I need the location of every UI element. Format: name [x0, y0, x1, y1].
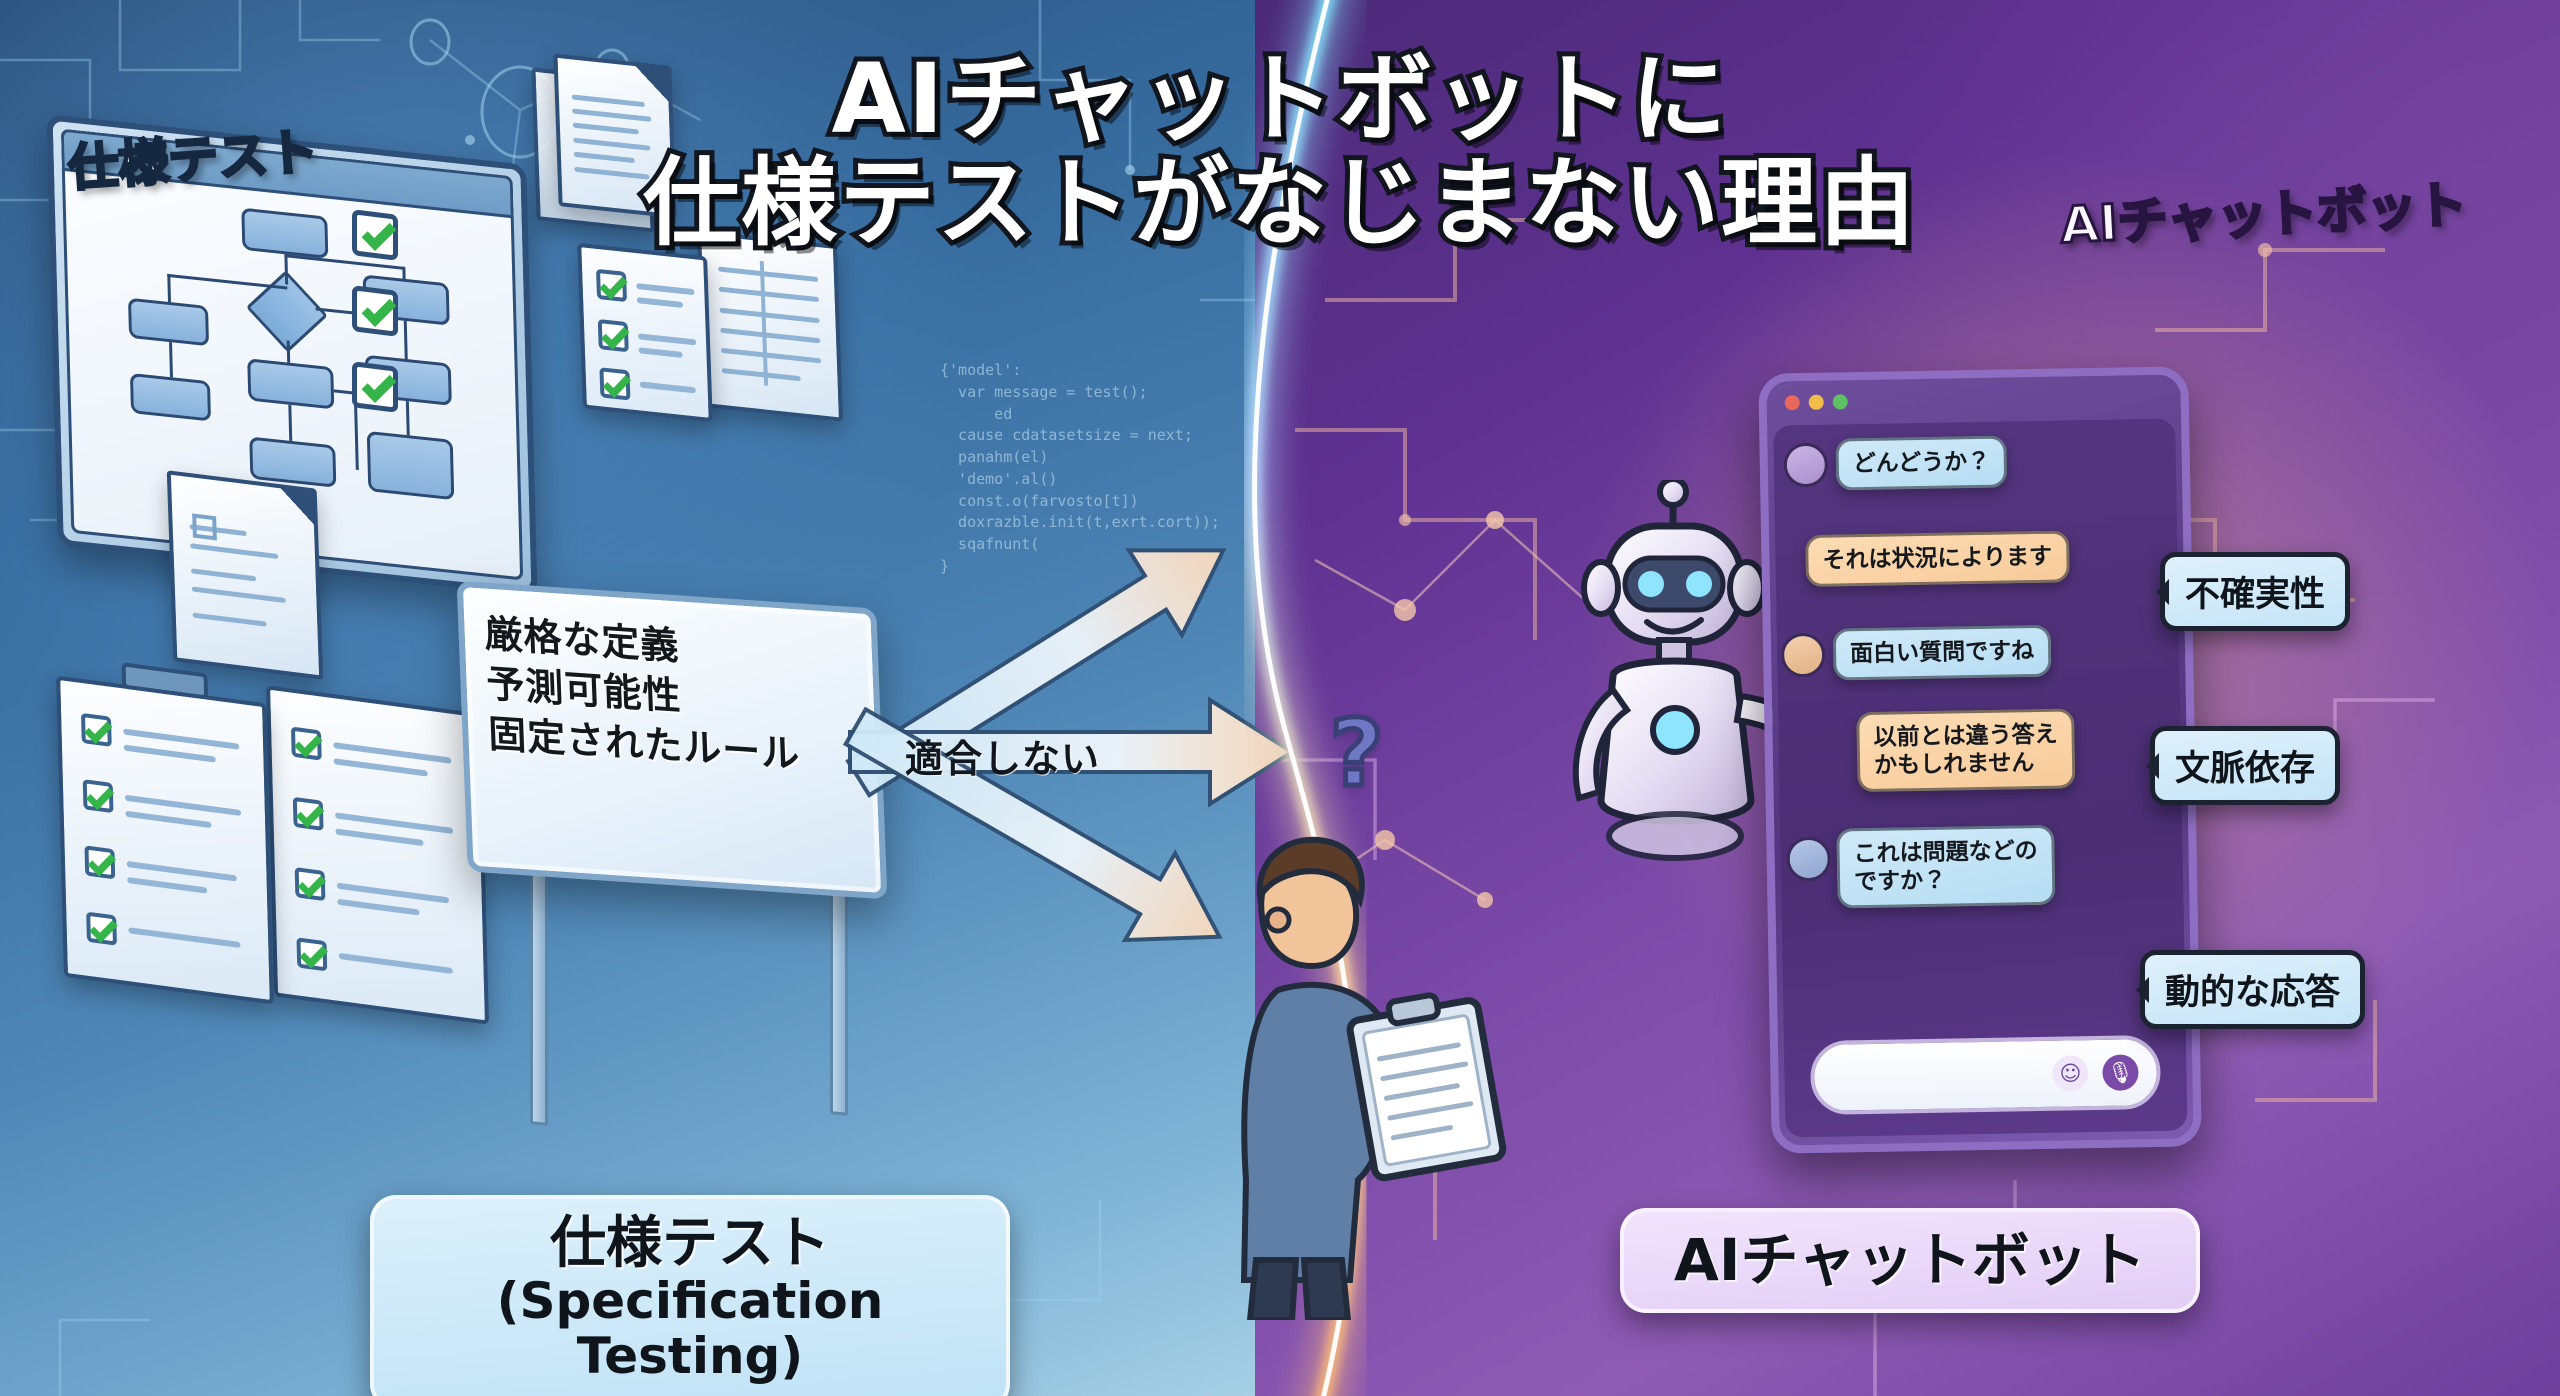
- flow-connector: [169, 342, 173, 377]
- phone-minimize-dot[interactable]: [1809, 394, 1824, 409]
- sign-text-lines: 厳格な定義 予測可能性 固定されたルール: [484, 608, 864, 784]
- document-sheet: [553, 53, 676, 218]
- bottom-label-ai-chatbot: AIチャットボット: [1620, 1208, 2200, 1313]
- flow-connector: [167, 274, 171, 302]
- page-fold: [634, 65, 669, 103]
- chat-bubble-bot: 以前とは違う答え かもしれません: [1856, 708, 2075, 792]
- flow-connector: [404, 321, 408, 359]
- flow-node: [247, 358, 334, 409]
- flow-connector: [288, 405, 292, 441]
- phone-close-dot[interactable]: [1785, 395, 1800, 410]
- left-panel-specification-testing: 厳格な定義 予測可能性 固定されたルール {'model': var messa…: [0, 0, 1305, 1396]
- chat-screen: どんどうか？ それは状況によります 面白い質問ですね 以前とは違う答え かもしれ…: [1773, 419, 2187, 1138]
- avatar: [1783, 443, 1828, 488]
- flow-node: [249, 437, 336, 488]
- sign-leg-left: [530, 864, 548, 1126]
- sign-leg-right: [830, 879, 848, 1116]
- flow-connector: [284, 254, 288, 284]
- clipboard-clip: [122, 662, 209, 699]
- flow-node-doc: [367, 431, 455, 500]
- flow-connector: [287, 340, 291, 362]
- person-with-clipboard: [1230, 760, 1530, 1320]
- left-code-snippet: {'model': var message = test(); ed cause…: [940, 360, 1220, 578]
- page-fold: [280, 487, 315, 525]
- pill-left-jp: 仕様テスト: [398, 1215, 982, 1274]
- chat-bubble-user: 面白い質問ですね: [1833, 625, 2052, 681]
- specification-signboard: 厳格な定義 予測可能性 固定されたルール: [457, 581, 888, 900]
- chat-bubble-bot: それは状況によります: [1805, 530, 2069, 587]
- clipboard-checklist: [56, 676, 274, 1005]
- pill-right-jp: AIチャットボット: [1648, 1230, 2172, 1291]
- infographic-canvas: 厳格な定義 予測可能性 固定されたルール {'model': var messa…: [0, 0, 2560, 1396]
- avatar: [1781, 633, 1826, 678]
- chat-bubble-user: どんどうか？: [1835, 435, 2007, 490]
- checklist-card: [266, 685, 489, 1025]
- mic-icon[interactable]: 🎙: [2102, 1054, 2139, 1091]
- callout-tag-uncertainty: 不確実性: [2160, 552, 2350, 631]
- chat-bubble-user: これは問題などの ですか？: [1836, 825, 2055, 909]
- flow-node: [130, 373, 211, 422]
- checklist-card: [577, 243, 713, 422]
- flow-connector: [402, 267, 405, 281]
- bottom-label-specification-testing: 仕様テスト (Specification Testing): [370, 1195, 1010, 1396]
- checkmark-group: [352, 209, 398, 413]
- flow-connector: [406, 401, 410, 435]
- arrow-label-mismatch: 適合しない: [905, 728, 1100, 783]
- phone-maximize-dot[interactable]: [1833, 394, 1848, 409]
- emoji-icon[interactable]: ☺: [2052, 1055, 2089, 1092]
- flow-node: [128, 298, 209, 347]
- pill-left-en: (Specification Testing): [398, 1274, 982, 1384]
- table-document: [697, 230, 843, 422]
- flow-connector: [167, 274, 287, 290]
- callout-tag-context-dependent: 文脈依存: [2150, 726, 2340, 805]
- avatar: [1786, 837, 1831, 882]
- document-sheet: [167, 470, 324, 679]
- callout-tag-dynamic-response: 動的な応答: [2140, 950, 2365, 1029]
- phone-topbar: [1772, 377, 2175, 422]
- chat-input-bar[interactable]: ☺ 🎙: [1810, 1035, 2161, 1115]
- flow-node: [241, 208, 328, 259]
